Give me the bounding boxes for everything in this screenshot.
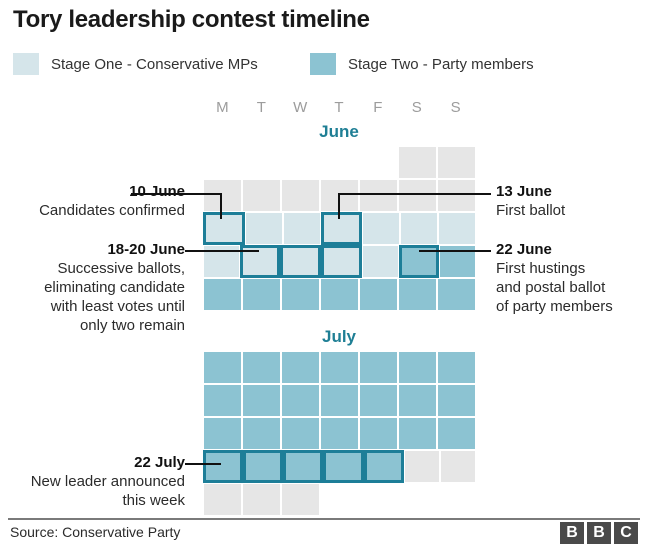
- calendar-cell-june-wed-week3[interactable]: [283, 212, 321, 245]
- calendar-cell-july-wed-week3[interactable]: [281, 417, 320, 450]
- annotation-june-18-20-line1: Successive ballots,: [0, 259, 185, 278]
- calendar-grid-june: [203, 146, 476, 311]
- calendar-cell-july-tue-week3[interactable]: [242, 417, 281, 450]
- calendar-cell-june-mon-week5[interactable]: [203, 278, 242, 311]
- calendar-cell-june-sun-week5[interactable]: [437, 278, 476, 311]
- calendar-cell-july-sun-week3[interactable]: [437, 417, 476, 450]
- annotation-june-22: 22 June First hustings and postal ballot…: [496, 240, 646, 316]
- calendar-cell-july-wed-week2[interactable]: [281, 384, 320, 417]
- month-label-july: July: [203, 327, 475, 347]
- annotation-june-22-line1: First hustings: [496, 259, 646, 278]
- calendar-cell-june-thu-week1: [320, 146, 359, 179]
- annotation-june-10: 10 June Candidates confirmed: [0, 182, 185, 220]
- leader-line-june1820-horizontal: [185, 250, 259, 252]
- calendar-cell-june-sat-week2[interactable]: [398, 179, 437, 212]
- calendar-cell-june-tue-week1: [242, 146, 281, 179]
- calendar-cell-highlighted-june-wed-week4[interactable]: [280, 245, 321, 278]
- legend-item-stage-two: Stage Two - Party members: [310, 52, 534, 76]
- calendar-cell-july-fri-week5: [359, 483, 398, 516]
- source-caption: Source: Conservative Party: [10, 524, 180, 540]
- calendar-cell-july-sun-week4[interactable]: [440, 450, 476, 483]
- leader-line-june13-horizontal: [338, 193, 491, 195]
- calendar-cell-july-sat-week2[interactable]: [398, 384, 437, 417]
- calendar-cell-june-mon-week1: [203, 146, 242, 179]
- legend-label-stage-one: Stage One - Conservative MPs: [51, 56, 258, 73]
- calendar-cell-july-tue-week1[interactable]: [242, 351, 281, 384]
- bbc-logo: B B C: [560, 522, 638, 544]
- annotation-july-22: 22 July New leader announced this week: [0, 453, 185, 510]
- annotation-june-10-date: 10 June: [0, 182, 185, 201]
- annotation-june-18-20-date: 18-20 June: [0, 240, 185, 259]
- calendar-cell-june-fri-week5[interactable]: [359, 278, 398, 311]
- calendar-cell-highlighted-july-fri-week4[interactable]: [364, 450, 404, 483]
- calendar-cell-june-sun-week1[interactable]: [437, 146, 476, 179]
- calendar-cell-july-mon-week1[interactable]: [203, 351, 242, 384]
- annotation-june-10-text: Candidates confirmed: [0, 201, 185, 220]
- calendar-week-row: [203, 146, 476, 179]
- calendar-cell-july-wed-week1[interactable]: [281, 351, 320, 384]
- legend-swatch-stage-two: [310, 53, 336, 75]
- calendar-cell-june-sat-week3[interactable]: [400, 212, 438, 245]
- annotation-june-22-line2: and postal ballot: [496, 278, 646, 297]
- calendar-week-row: [203, 278, 476, 311]
- calendar-cell-highlighted-june-mon-week3[interactable]: [203, 212, 245, 245]
- calendar-cell-june-sun-week2[interactable]: [437, 179, 476, 212]
- bbc-logo-letter-1: B: [560, 522, 584, 544]
- annotation-june-13-text: First ballot: [496, 201, 646, 220]
- calendar-week-row: [203, 351, 476, 384]
- calendar-cell-june-sat-week5[interactable]: [398, 278, 437, 311]
- calendar-cell-july-sat-week1[interactable]: [398, 351, 437, 384]
- annotation-june-22-line3: of party members: [496, 297, 646, 316]
- calendar-cell-june-wed-week5[interactable]: [281, 278, 320, 311]
- annotation-july-22-date: 22 July: [0, 453, 185, 472]
- calendar-week-row: [203, 384, 476, 417]
- leader-line-june13-vertical: [338, 193, 340, 219]
- bbc-logo-letter-2: B: [587, 522, 611, 544]
- day-header-sat: S: [397, 99, 436, 119]
- calendar-cell-july-tue-week2[interactable]: [242, 384, 281, 417]
- day-header-wed: W: [281, 99, 320, 119]
- calendar-cell-july-sun-week2[interactable]: [437, 384, 476, 417]
- calendar-cell-highlighted-june-thu-week4[interactable]: [321, 245, 362, 278]
- calendar-cell-june-fri-week2[interactable]: [359, 179, 398, 212]
- annotation-june-18-20: 18-20 June Successive ballots, eliminati…: [0, 240, 185, 335]
- footer-divider: [8, 518, 640, 520]
- leader-line-july22-horizontal: [185, 463, 221, 465]
- calendar-week-row: [203, 483, 476, 516]
- calendar-cell-june-fri-week1: [359, 146, 398, 179]
- infographic-root: Tory leadership contest timeline Stage O…: [0, 0, 648, 557]
- annotation-june-18-20-line2: eliminating candidate: [0, 278, 185, 297]
- annotation-june-22-date: 22 June: [496, 240, 646, 259]
- calendar-cell-july-fri-week3[interactable]: [359, 417, 398, 450]
- calendar-cell-july-fri-week2[interactable]: [359, 384, 398, 417]
- calendar-cell-june-sat-week1[interactable]: [398, 146, 437, 179]
- annotation-july-22-line1: New leader announced: [0, 472, 185, 491]
- page-title: Tory leadership contest timeline: [13, 6, 370, 34]
- day-header-mon: M: [203, 99, 242, 119]
- calendar-cell-july-sun-week1[interactable]: [437, 351, 476, 384]
- legend-item-stage-one: Stage One - Conservative MPs: [13, 52, 258, 76]
- calendar-cell-july-tue-week5[interactable]: [242, 483, 281, 516]
- calendar-cell-june-thu-week5[interactable]: [320, 278, 359, 311]
- leader-line-june22-horizontal: [419, 250, 491, 252]
- calendar-cell-june-mon-week2[interactable]: [203, 179, 242, 212]
- calendar-cell-july-sun-week5: [437, 483, 476, 516]
- calendar-cell-july-wed-week5[interactable]: [281, 483, 320, 516]
- calendar-cell-july-fri-week1[interactable]: [359, 351, 398, 384]
- leader-line-june10-vertical: [220, 193, 222, 219]
- calendar-cell-july-sat-week5: [398, 483, 437, 516]
- bbc-logo-letter-3: C: [614, 522, 638, 544]
- annotation-june-18-20-line3: with least votes until: [0, 297, 185, 316]
- calendar-cell-june-wed-week1: [281, 146, 320, 179]
- calendar-cell-highlighted-july-mon-week4[interactable]: [203, 450, 243, 483]
- calendar-cell-july-thu-week3[interactable]: [320, 417, 359, 450]
- calendar-cell-july-sat-week4[interactable]: [404, 450, 440, 483]
- calendar-cell-june-tue-week3[interactable]: [245, 212, 283, 245]
- calendar-cell-july-thu-week5: [320, 483, 359, 516]
- calendar-cell-june-tue-week2[interactable]: [242, 179, 281, 212]
- calendar-cell-highlighted-july-wed-week4[interactable]: [283, 450, 323, 483]
- annotation-june-13: 13 June First ballot: [496, 182, 646, 220]
- day-header-thu: T: [320, 99, 359, 119]
- month-label-june: June: [203, 122, 475, 142]
- calendar-cell-highlighted-july-thu-week4[interactable]: [323, 450, 363, 483]
- legend-label-stage-two: Stage Two - Party members: [348, 56, 534, 73]
- day-header-sun: S: [436, 99, 475, 119]
- calendar-cell-july-mon-week3[interactable]: [203, 417, 242, 450]
- annotation-june-18-20-line4: only two remain: [0, 316, 185, 335]
- calendar-cell-june-fri-week3[interactable]: [362, 212, 400, 245]
- calendar-week-row: [203, 450, 476, 483]
- calendar-cell-july-mon-week2[interactable]: [203, 384, 242, 417]
- calendar-cell-july-thu-week1[interactable]: [320, 351, 359, 384]
- calendar-cell-july-mon-week5[interactable]: [203, 483, 242, 516]
- calendar-cell-highlighted-june-thu-week3[interactable]: [321, 212, 363, 245]
- annotation-june-13-date: 13 June: [496, 182, 646, 201]
- calendar-week-row: [203, 417, 476, 450]
- calendar-cell-july-thu-week2[interactable]: [320, 384, 359, 417]
- calendar-grid-july: [203, 351, 476, 516]
- day-header-fri: F: [358, 99, 397, 119]
- calendar-cell-june-wed-week2[interactable]: [281, 179, 320, 212]
- leader-line-june10-horizontal: [131, 193, 222, 195]
- calendar-cell-july-sat-week3[interactable]: [398, 417, 437, 450]
- legend-swatch-stage-one: [13, 53, 39, 75]
- calendar-cell-june-tue-week5[interactable]: [242, 278, 281, 311]
- day-header-tue: T: [242, 99, 281, 119]
- calendar-cell-june-fri-week4[interactable]: [362, 245, 399, 278]
- day-of-week-header: M T W T F S S: [203, 99, 475, 119]
- calendar-cell-highlighted-july-tue-week4[interactable]: [243, 450, 283, 483]
- annotation-july-22-line2: this week: [0, 491, 185, 510]
- calendar-cell-june-sun-week3[interactable]: [438, 212, 476, 245]
